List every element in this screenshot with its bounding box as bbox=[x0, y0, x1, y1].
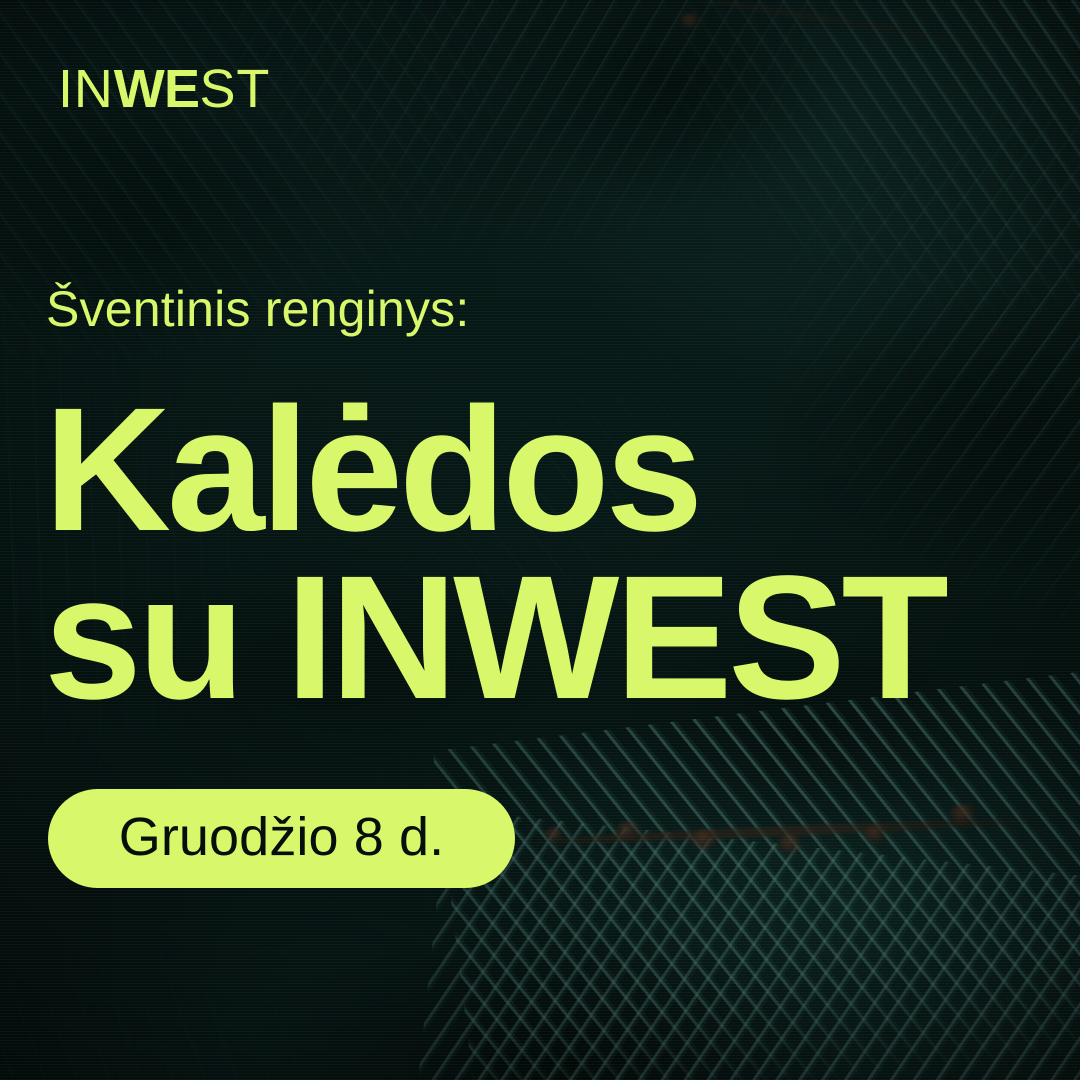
poster-content: INWEST Šventinis renginys: Kalėdos su IN… bbox=[0, 0, 1080, 1080]
headline-line-1: Kalėdos bbox=[44, 386, 945, 554]
promo-poster: INWEST Šventinis renginys: Kalėdos su IN… bbox=[0, 0, 1080, 1080]
headline-line-2: su INWEST bbox=[44, 554, 945, 722]
page-title: Kalėdos su INWEST bbox=[44, 386, 945, 722]
logo-segment-st: ST bbox=[199, 59, 270, 119]
logo-segment-we: WE bbox=[114, 59, 200, 119]
date-badge-label: Gruodžio 8 d. bbox=[119, 810, 445, 868]
date-badge: Gruodžio 8 d. bbox=[48, 789, 515, 888]
inwest-logo: INWEST bbox=[58, 62, 270, 116]
eyebrow-text: Šventinis renginys: bbox=[46, 284, 469, 334]
logo-segment-in: IN bbox=[58, 59, 114, 119]
